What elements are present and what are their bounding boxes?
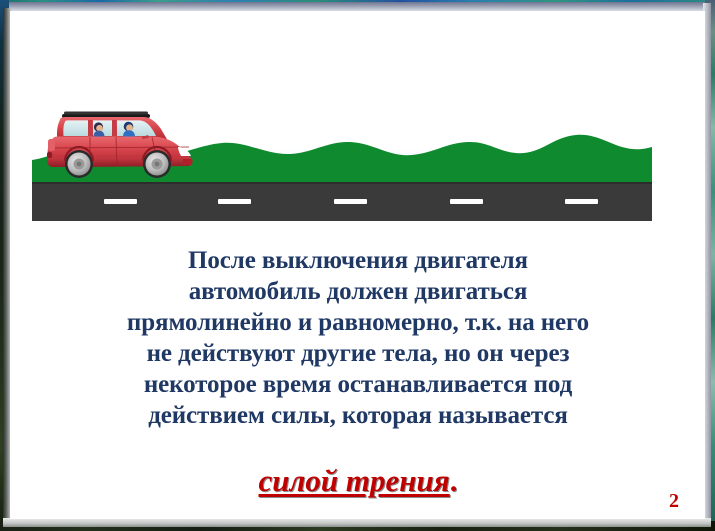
emphasis-period: . bbox=[450, 463, 458, 498]
frame-border-left bbox=[0, 0, 9, 531]
car-on-road-illustration bbox=[32, 85, 652, 221]
car-front-wheel bbox=[143, 150, 171, 178]
car-windows bbox=[63, 120, 156, 137]
frame-border-bottom bbox=[0, 521, 715, 531]
body-line-3: прямолинейно и равномерно, т.к. на него bbox=[28, 307, 688, 338]
slide-body-text: После выключения двигателя автомобиль до… bbox=[28, 245, 688, 431]
slide-frame: После выключения двигателя автомобиль до… bbox=[0, 0, 715, 531]
slide-number: 2 bbox=[669, 490, 679, 513]
car-front-bumper bbox=[183, 159, 193, 165]
frame-border-top bbox=[0, 0, 715, 9]
body-line-2: автомобиль должен двигаться bbox=[28, 276, 688, 307]
asphalt-road bbox=[32, 182, 652, 221]
body-line-5: некоторое время останавливается под bbox=[28, 369, 688, 400]
body-line-1: После выключения двигателя bbox=[28, 245, 688, 276]
emphasis-term: силой трения bbox=[259, 463, 450, 498]
body-line-4: не действуют другие тела, но он через bbox=[28, 338, 688, 369]
frame-border-right bbox=[705, 0, 715, 531]
frame-border-bottom-bevel bbox=[3, 518, 711, 527]
car-rear-wheel bbox=[65, 150, 93, 178]
frame-border-top-bevel bbox=[2, 2, 713, 11]
body-line-6: действием силы, которая называется bbox=[28, 400, 688, 431]
car-rear-bumper-trim bbox=[47, 152, 52, 158]
slide-canvas: После выключения двигателя автомобиль до… bbox=[10, 11, 705, 519]
emphasis-line: силой трения. bbox=[28, 463, 688, 499]
car-taillight bbox=[48, 139, 55, 151]
